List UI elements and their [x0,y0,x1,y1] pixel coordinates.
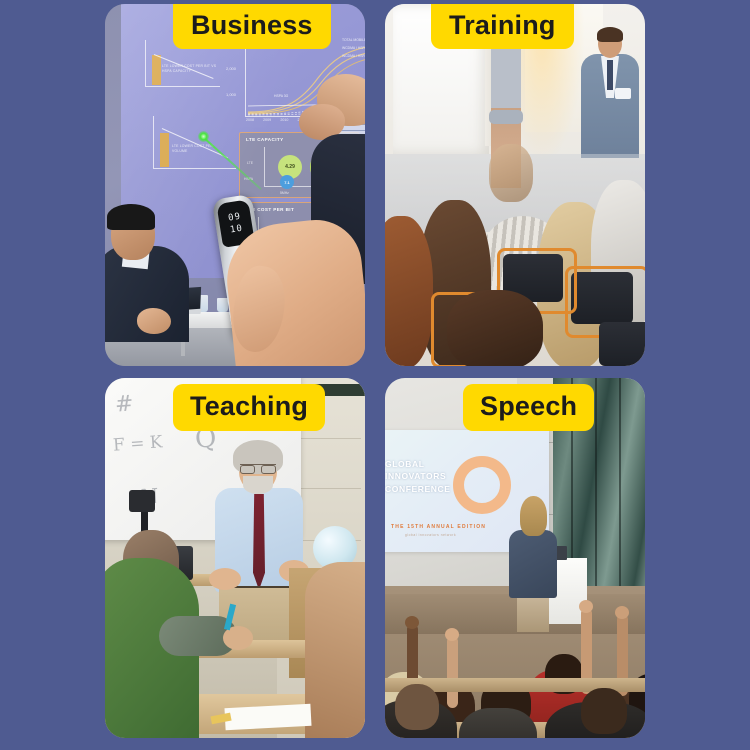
audience-head-8 [581,688,627,734]
series-label-downlink: WCDMA / HSPA+ DOWNLINK [342,54,365,59]
speaker-jacket [509,530,557,598]
remote-display-line-2: 10 [229,223,244,237]
trainer-badge [615,88,631,99]
ring-logo [453,456,511,514]
lte-capacity-title: LTE CAPACITY [246,137,284,142]
bubble-hspa: 7.1 [280,175,294,189]
slide-title-line-2: INNOVATORS [385,470,451,482]
training-scene-photo [385,4,645,366]
audience-head-7 [395,684,439,730]
slide-title: GLOBAL INNOVATORS CONFERENCE [385,458,451,495]
student-right-foreground [305,562,365,738]
mini-chart-1-slope [154,54,214,79]
projector-head [129,490,155,512]
conference-speaker [507,496,559,630]
lte-capacity-y-lte: LTE [247,161,253,165]
x-tick-2010: 2010 [280,118,288,122]
y-tick-2000: 2,000 [226,66,236,71]
card-teaching[interactable]: # F = K Q N [105,378,365,738]
x-tick-2008: 2008 [246,118,254,122]
professor-left-hand [209,568,241,590]
slide-fine-print: global innovators network [405,533,456,537]
mullion-2 [595,378,597,608]
card-label-training: Training [431,4,574,49]
audience-fist-1 [405,616,419,629]
trainer-hair [597,27,623,42]
chair-back-4 [599,322,645,366]
card-label-speech: Speech [463,384,594,431]
sleeve-cuff [489,110,523,124]
laser-dot [198,131,209,142]
whiteboard-ink-formula: F = K [112,432,163,455]
lte-capacity-x-5mhz: 5MHz [280,191,289,195]
professor-beard [243,476,273,494]
attendee-clapping [105,192,189,342]
thumb [227,262,291,355]
baseline-label: HSPA 3G [274,94,288,99]
mini-chart-2-slope [162,128,228,158]
scene-grid: LTE LOWER COST PER BIT VS HSPA CAPACITY … [105,4,645,738]
trainer-tie [607,60,613,90]
card-training[interactable]: Training [385,4,645,366]
series-label-uplink: WCDMA / HSPA+ UPLINK [342,46,365,51]
poster-canvas: LTE LOWER COST PER BIT VS HSPA CAPACITY … [0,0,750,750]
trainer-standing [581,30,639,158]
water-glass-2 [217,298,228,312]
speaker-hair [520,496,547,536]
professor-glasses [240,464,276,472]
audience-head-mid [489,144,533,202]
speaker-trousers [517,594,549,632]
card-label-business: Business [173,4,331,49]
series-label-total: TOTAL MOBILE DATA [342,38,365,43]
audience-fist-3 [579,600,593,613]
slide-title-line-3: CONFERENCE [385,483,451,495]
notebook-paper [224,704,311,730]
mullion-3 [619,378,621,608]
professor-tie [253,494,265,590]
business-scene-photo: LTE LOWER COST PER BIT VS HSPA CAPACITY … [105,4,365,366]
attendee-hands [137,308,171,334]
mini-chart-2-bar [160,133,169,167]
mini-chart-1-bar [152,55,161,85]
speech-scene-photo: GLOBAL INNOVATORS CONFERENCE THE 15TH AN… [385,378,645,738]
audience-head-front [447,290,543,366]
card-speech[interactable]: GLOBAL INNOVATORS CONFERENCE THE 15TH AN… [385,378,645,738]
x-tick-2009: 2009 [263,118,271,122]
card-label-teaching: Teaching [173,384,325,431]
attendee-hair [107,204,155,230]
audience-fist-2 [445,628,459,641]
mini-chart-1-caption: LTE LOWER COST PER BIT VS HSPA CAPACITY [162,64,218,74]
whiteboard-ink-hash: # [114,391,134,417]
slide-subtitle: THE 15TH ANNUAL EDITION [391,524,486,530]
teaching-scene-photo: # F = K Q N [105,378,365,738]
y-tick-1000: 1,000 [226,92,236,97]
mini-chart-2: LTE LOWER COST PER VOLUME [153,116,236,169]
slide-title-line-1: GLOBAL [385,458,451,470]
card-business[interactable]: LTE LOWER COST PER BIT VS HSPA CAPACITY … [105,4,365,366]
audience-fist-4 [615,606,629,619]
audience-arm-2 [447,636,458,708]
audience-head-redhead [385,216,433,366]
